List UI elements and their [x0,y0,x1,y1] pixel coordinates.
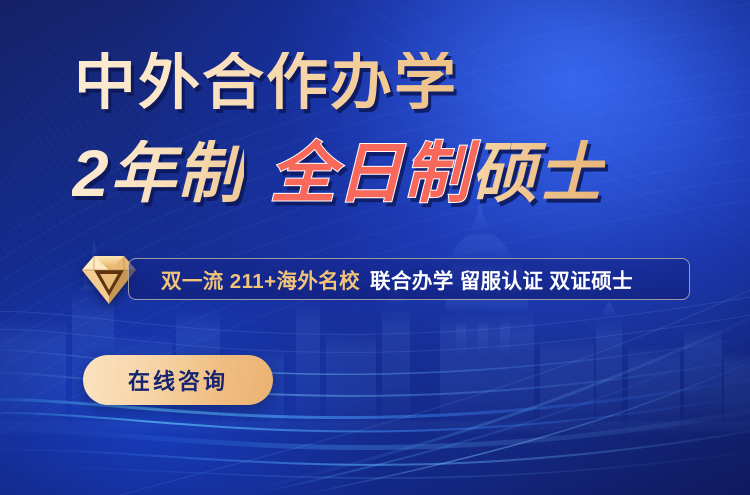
badge-rest-text: 联合办学 留服认证 双证硕士 [370,264,633,294]
headline-segment-master: 硕士 [471,140,605,206]
headline-secondary: 2年制 全日制 硕士 [72,140,605,206]
headline-segment-fulltime: 全日制 [270,140,471,206]
promo-banner: 中外合作办学 2年制 全日制 硕士 [0,0,750,495]
headline-segment-duration: 2年制 [72,140,244,206]
badge-highlight-text: 双一流 211+海外名校 [161,264,360,294]
headline-primary: 中外合作办学 [74,52,458,114]
credentials-badge-bar: 双一流 211+海外名校 联合办学 留服认证 双证硕士 [128,258,690,300]
online-consult-button[interactable]: 在线咨询 [83,355,273,405]
